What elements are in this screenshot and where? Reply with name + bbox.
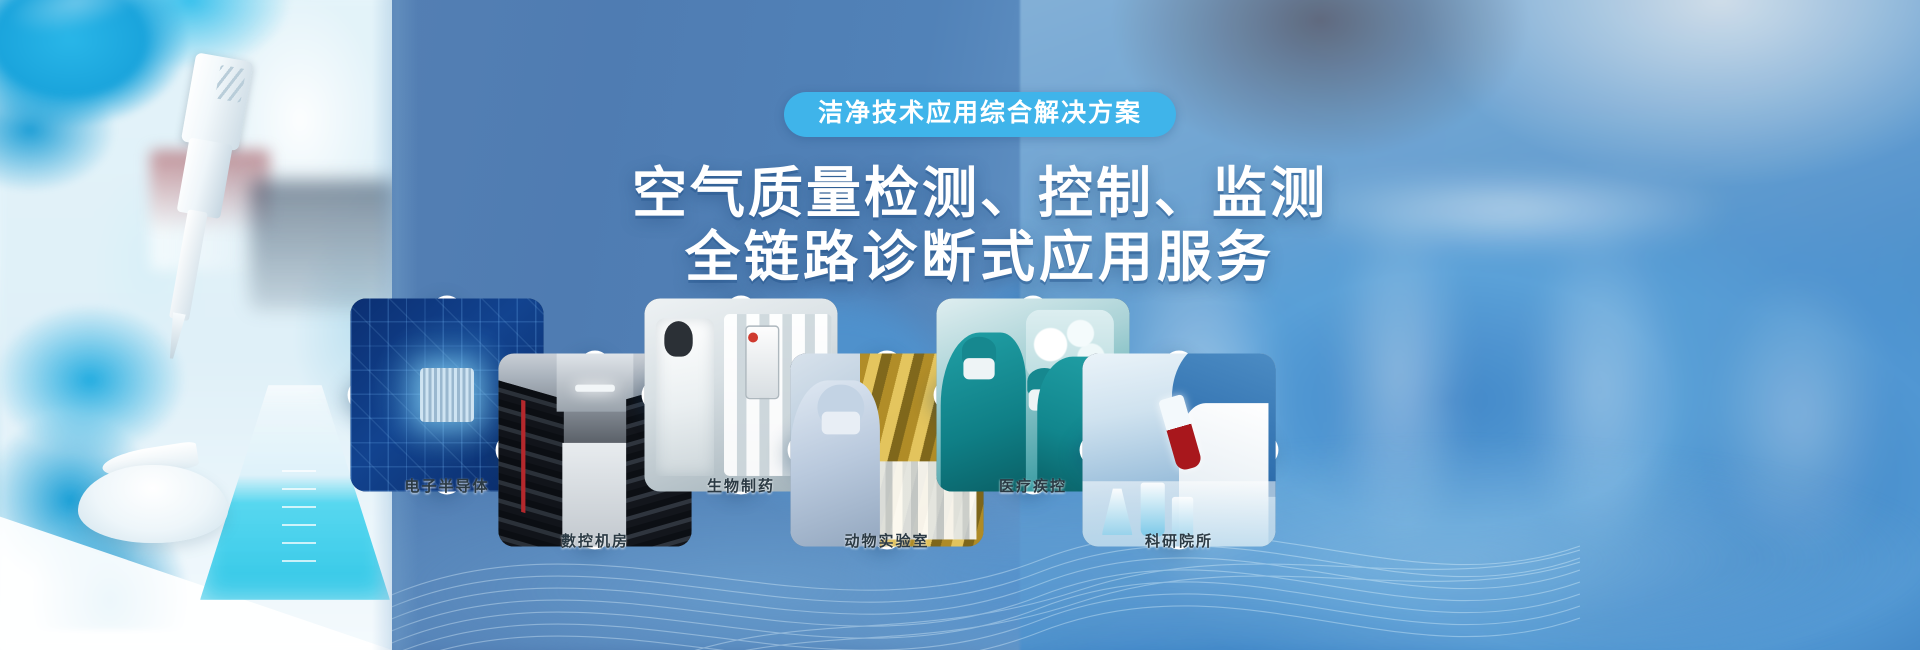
industry-card-row: 电子半导体 數控机房	[0, 0, 1920, 650]
hero-banner: 洁净技术应用综合解决方案 空气质量检测、控制、监测 全链路诊断式应用服务 电子半…	[0, 0, 1920, 650]
card-label: 生物制药	[707, 475, 775, 496]
card-label: 科研院所	[1145, 530, 1213, 551]
card-label: 數控机房	[561, 530, 629, 551]
card-label: 电子半导体	[404, 475, 489, 496]
card-label: 医疗疾控	[999, 475, 1067, 496]
card-label: 动物实验室	[844, 530, 929, 551]
industry-card-research[interactable]: 科研院所	[1104, 375, 1254, 525]
